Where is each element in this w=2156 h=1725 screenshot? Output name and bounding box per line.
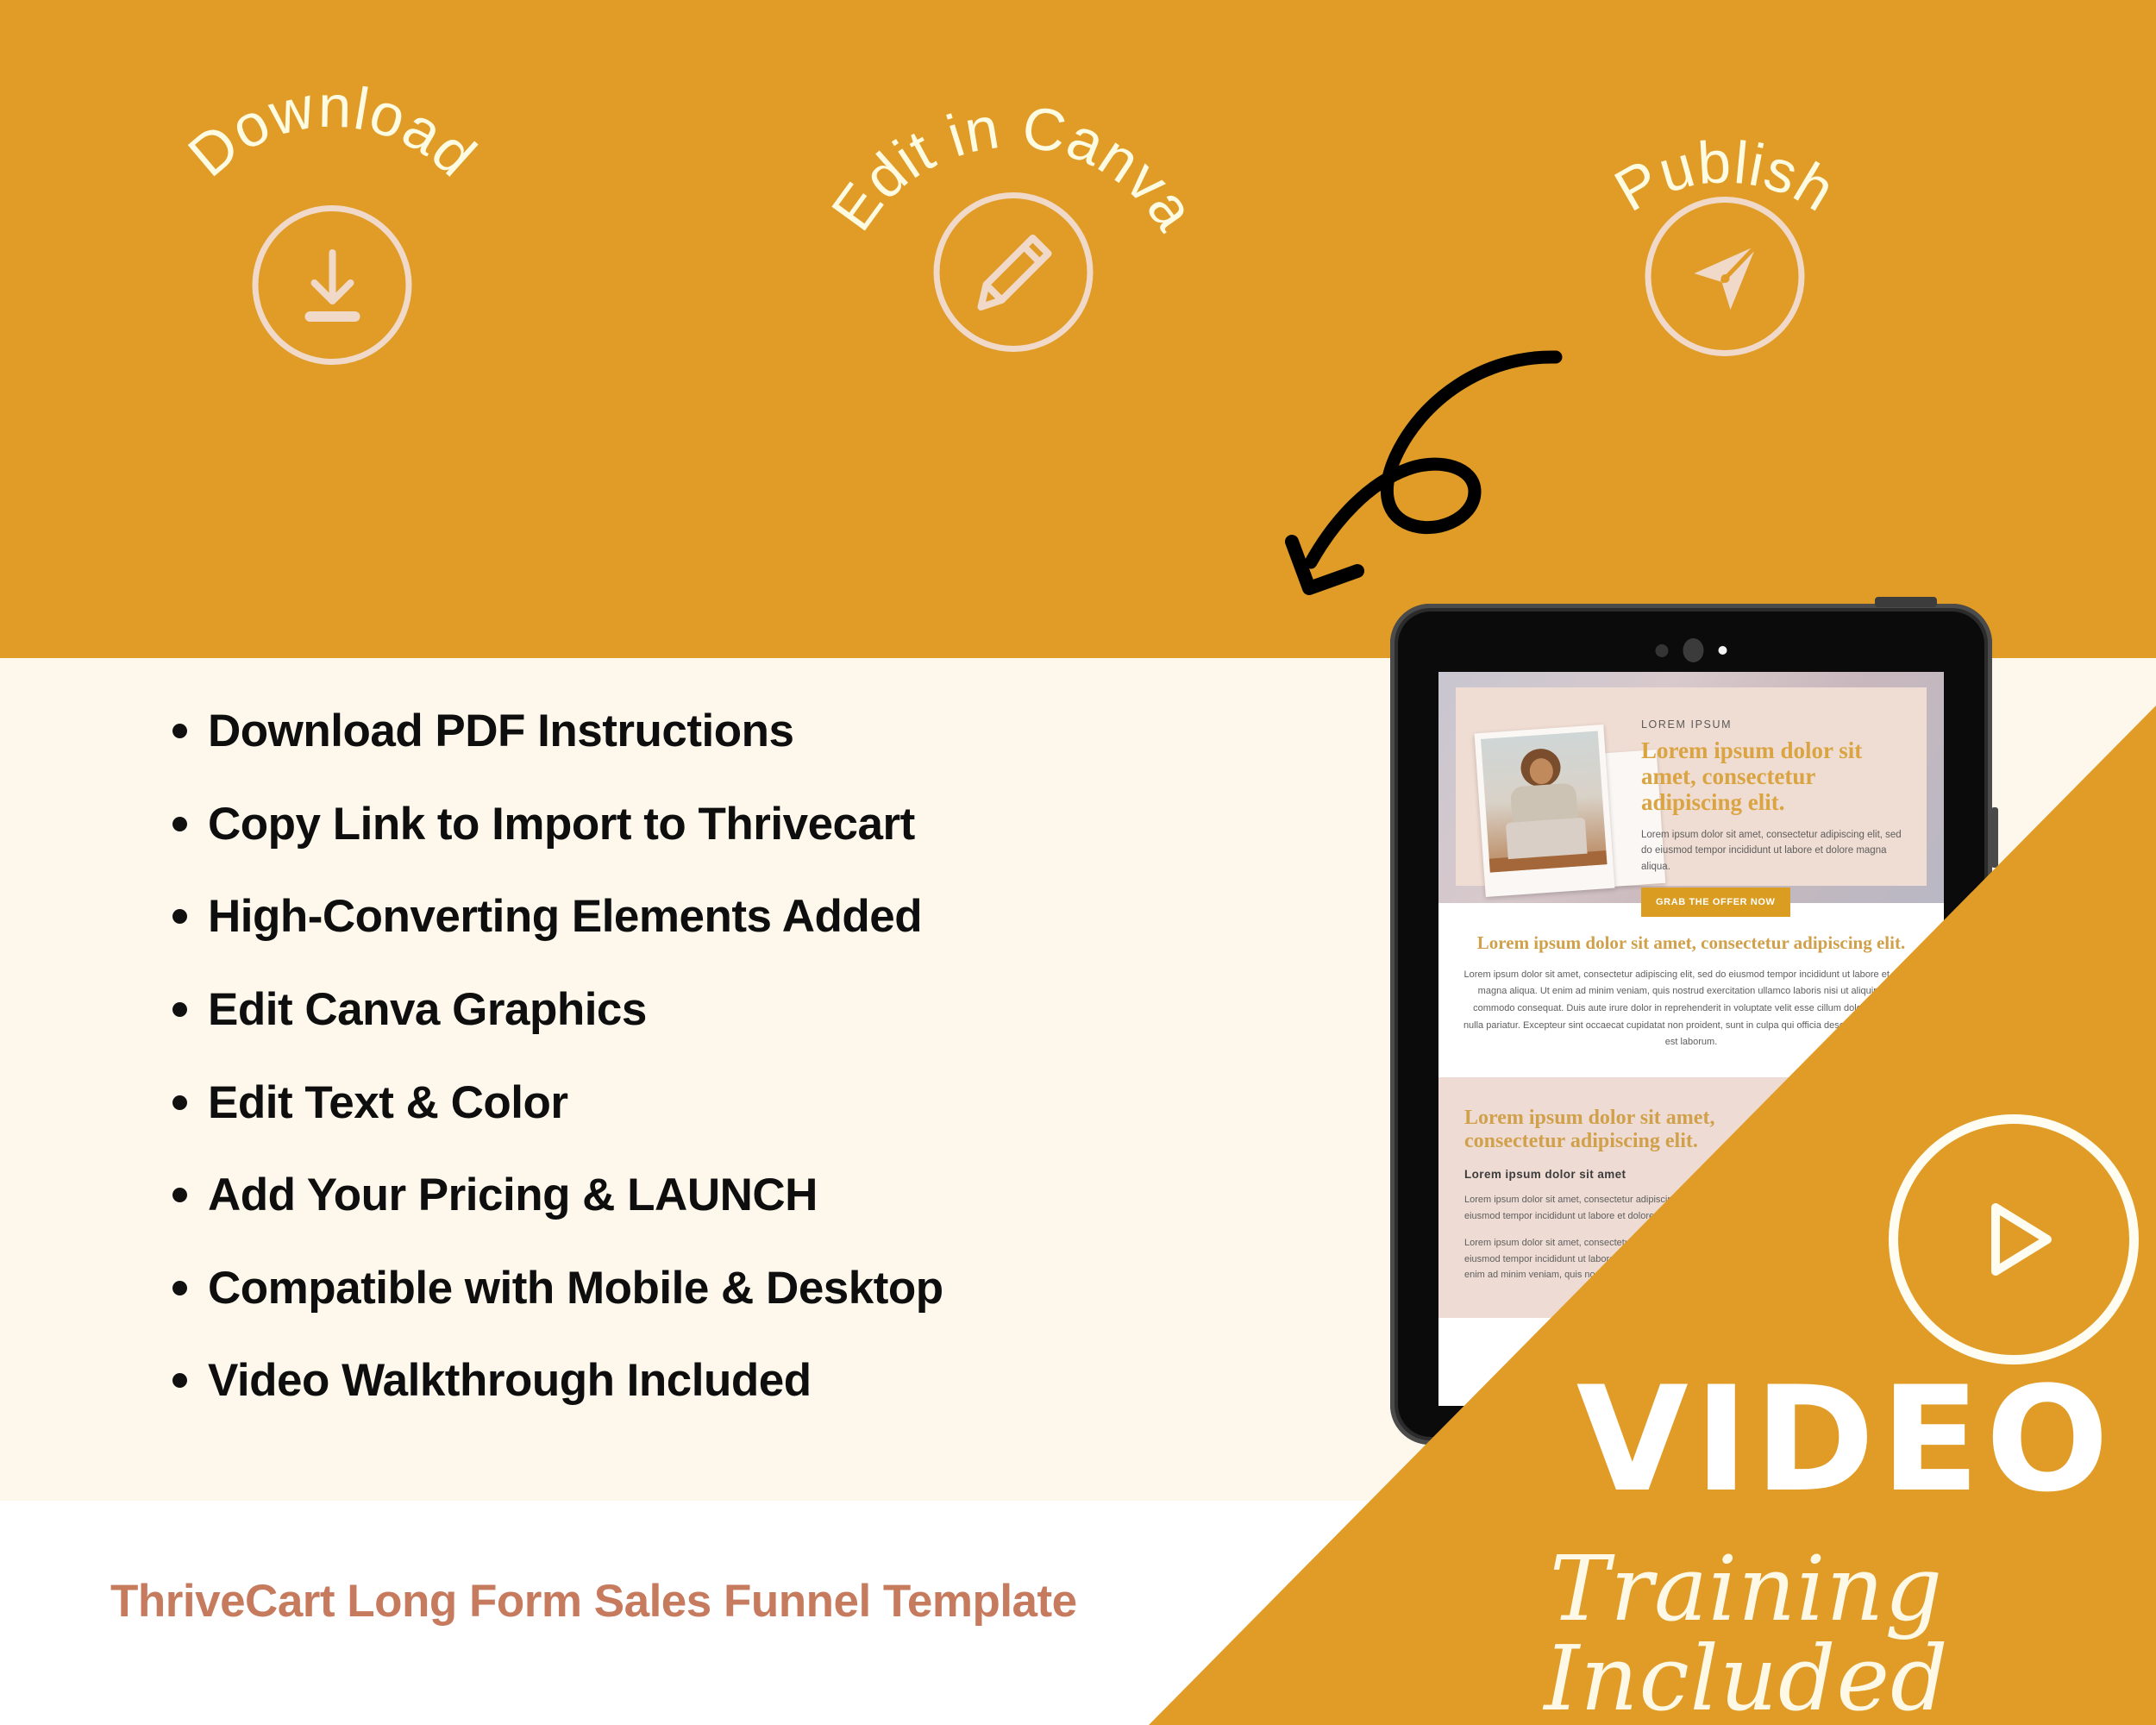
list-item: Compatible with Mobile & Desktop	[172, 1264, 1319, 1313]
poster-canvas: Download Edit in Canva	[0, 0, 2156, 1725]
page-hero-section: LOREM IPSUM Lorem ipsum dolor sit amet, …	[1438, 672, 1944, 903]
bullet-dot-icon	[172, 909, 187, 924]
camera-icon	[1683, 638, 1704, 662]
list-item: Add Your Pricing & LAUNCH	[172, 1171, 1319, 1220]
list-item: Edit Canva Graphics	[172, 986, 1319, 1034]
hero-photo	[1481, 731, 1607, 872]
feature-label: Edit Canva Graphics	[208, 986, 647, 1034]
grab-offer-button[interactable]: GRAB THE OFFER NOW	[1641, 888, 1790, 917]
training-subhead: Training Included	[1345, 1544, 2147, 1723]
list-item: Copy Link to Import to Thrivecart	[172, 800, 1319, 849]
play-icon[interactable]	[1889, 1114, 2139, 1364]
feature-label: Download PDF Instructions	[208, 707, 793, 756]
curved-loop-arrow-icon	[1268, 336, 1578, 630]
feature-label: Video Walkthrough Included	[208, 1357, 812, 1405]
download-icon	[253, 205, 412, 365]
list-item: Edit Text & Color	[172, 1079, 1319, 1127]
feature-label: Compatible with Mobile & Desktop	[208, 1264, 943, 1313]
page-title: ThriveCart Long Form Sales Funnel Templa…	[110, 1575, 1077, 1628]
feature-label: Edit Text & Color	[208, 1079, 567, 1127]
indicator-light-icon	[1719, 646, 1727, 655]
tablet-camera-array	[1656, 638, 1727, 662]
tablet-power-button	[1875, 597, 1937, 607]
step-download: Download	[151, 103, 513, 474]
bullet-dot-icon	[172, 1281, 187, 1295]
list-item: Video Walkthrough Included	[172, 1357, 1319, 1405]
bullet-dot-icon	[172, 817, 187, 831]
sensor-icon	[1656, 644, 1669, 657]
list-item: High-Converting Elements Added	[172, 893, 1319, 941]
video-headline: VIDEO	[1544, 1367, 2147, 1512]
step-publish: Publish	[1544, 95, 1906, 466]
feature-label: High-Converting Elements Added	[208, 893, 922, 941]
feature-label: Copy Link to Import to Thrivecart	[208, 800, 915, 849]
list-item: Download PDF Instructions	[172, 707, 1319, 756]
pencil-icon	[934, 192, 1094, 352]
hero-copy: LOREM IPSUM Lorem ipsum dolor sit amet, …	[1641, 718, 1908, 917]
bullet-dot-icon	[172, 1373, 187, 1388]
feature-list: Download PDF Instructions Copy Link to I…	[172, 707, 1319, 1450]
hero-body: Lorem ipsum dolor sit amet, consectetur …	[1641, 827, 1908, 875]
bullet-dot-icon	[172, 1002, 187, 1017]
hero-title: Lorem ipsum dolor sit amet, consectetur …	[1641, 737, 1908, 816]
bullet-dot-icon	[172, 1188, 187, 1202]
hero-card: LOREM IPSUM Lorem ipsum dolor sit amet, …	[1456, 687, 1927, 886]
tablet-volume-up-button	[1991, 807, 1998, 868]
white-section-title: Lorem ipsum dolor sit amet, consectetur …	[1463, 932, 1920, 954]
polaroid-front	[1475, 724, 1615, 897]
paper-plane-icon	[1645, 197, 1805, 356]
bullet-dot-icon	[172, 724, 187, 738]
bullet-dot-icon	[172, 1095, 187, 1110]
feature-label: Add Your Pricing & LAUNCH	[208, 1171, 818, 1220]
hero-kicker: LOREM IPSUM	[1641, 718, 1908, 731]
step-edit-in-canva: Edit in Canva	[832, 91, 1194, 461]
laptop-icon	[1506, 818, 1588, 859]
pink-section-title: Lorem ipsum dolor sit amet, consectetur …	[1464, 1107, 1737, 1155]
